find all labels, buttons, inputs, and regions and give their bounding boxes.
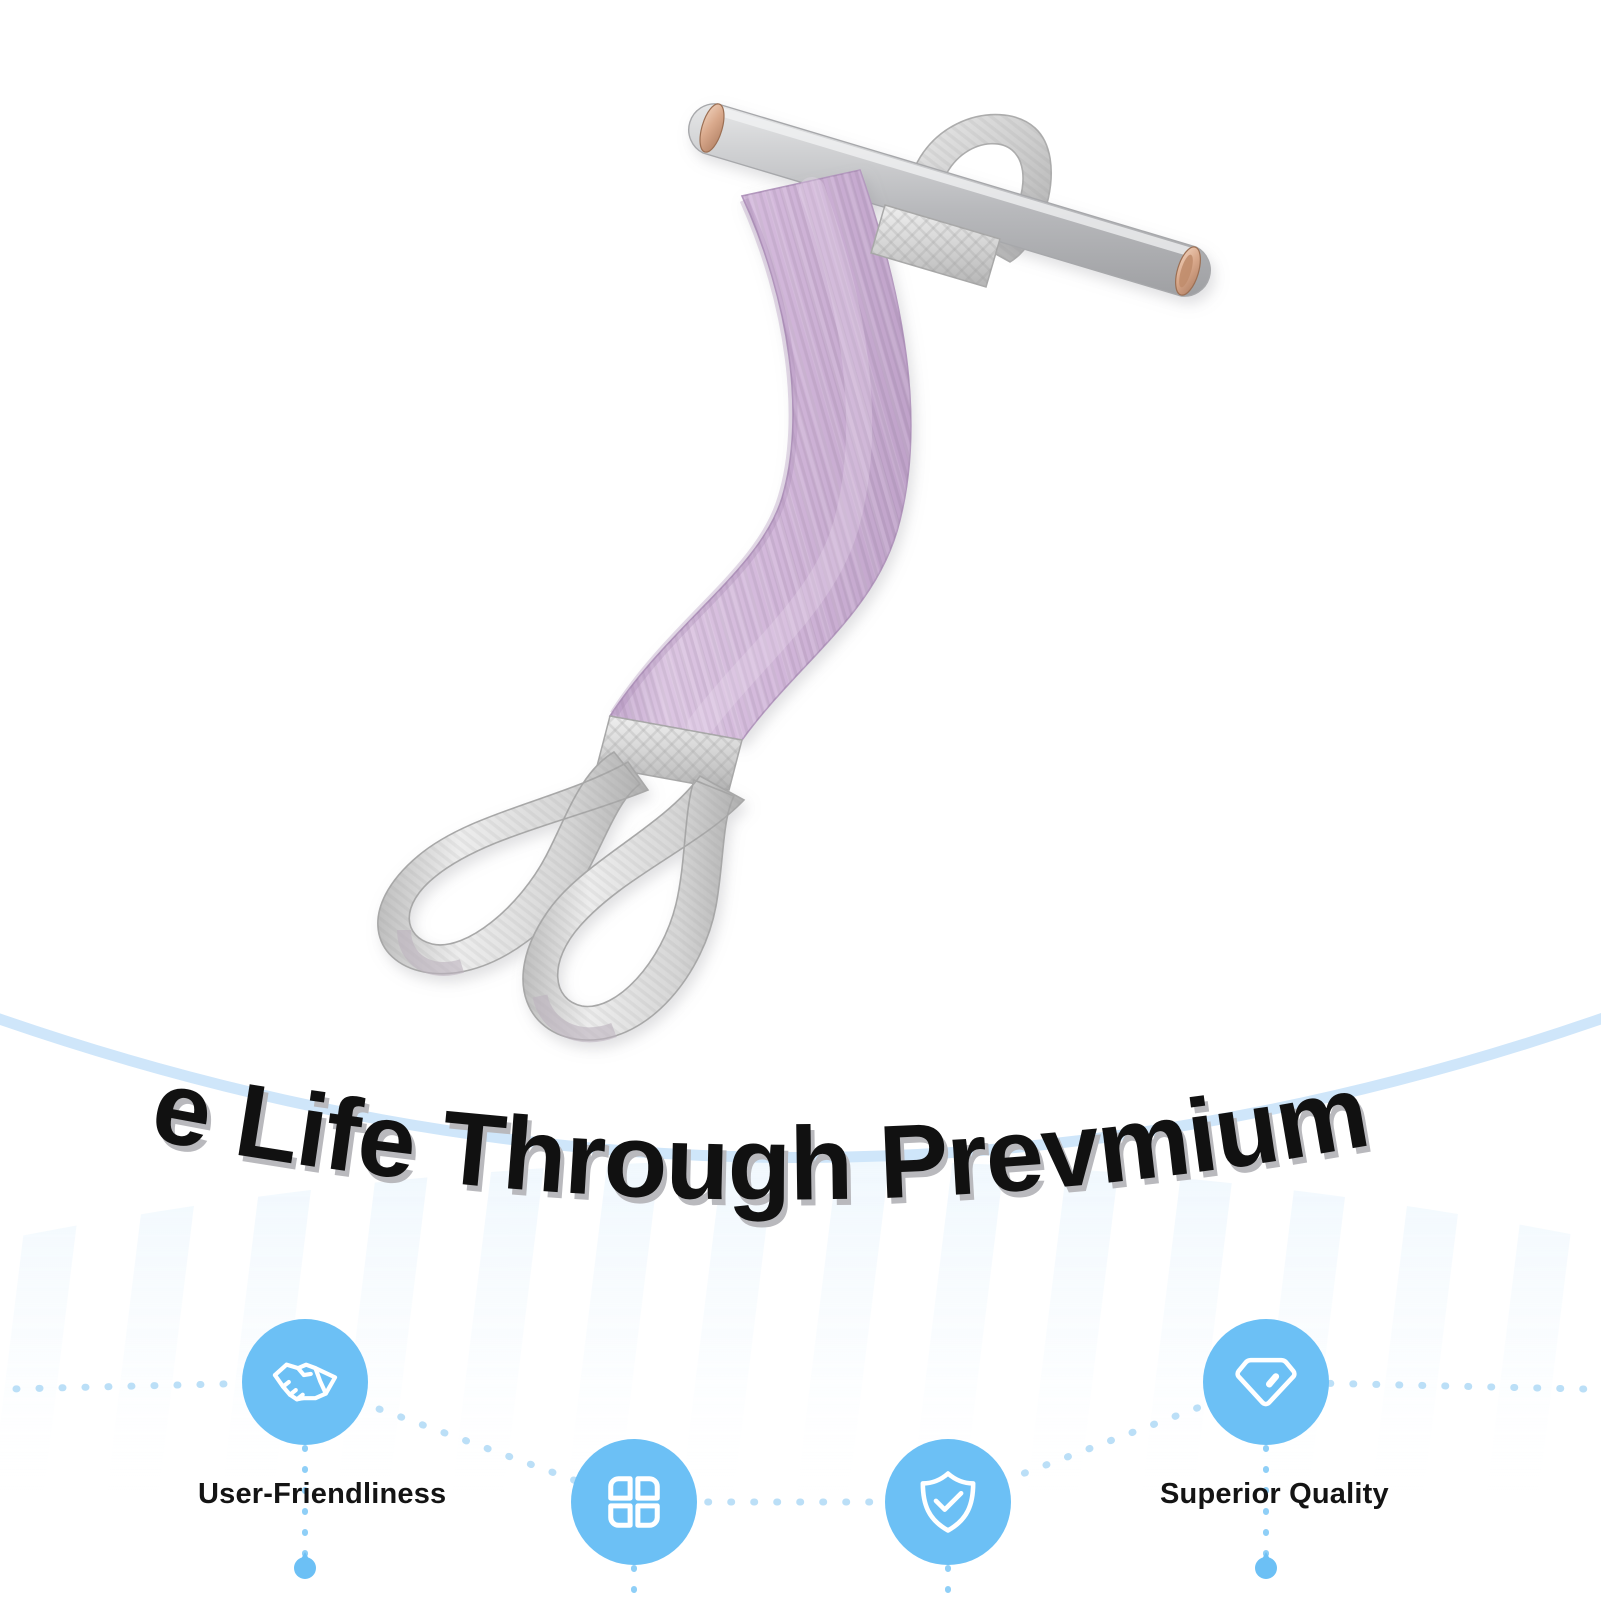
- feature-label-long-term-protection: Long Term Protection: [808, 1597, 1111, 1601]
- handshake-icon: [268, 1345, 342, 1419]
- feature-label-superior-quality: Superior Quality: [1160, 1478, 1389, 1511]
- feature-list: User-Friendliness Versatility: [0, 1190, 1601, 1601]
- feature-icon-circle-user-friendliness[interactable]: [242, 1319, 368, 1445]
- product-marketing-banner: Elevate Life Through Prevmium Quality El…: [0, 0, 1601, 1601]
- feature-dropper-4: [1255, 1448, 1277, 1579]
- feature-icon-circle-long-term-protection[interactable]: [885, 1439, 1011, 1565]
- feature-icon-circle-versatility[interactable]: [571, 1439, 697, 1565]
- product-image: [0, 0, 1601, 1100]
- shield-check-icon: [913, 1467, 983, 1537]
- feature-label-versatility: Versatility: [557, 1597, 696, 1601]
- diamond-gem-icon: [1231, 1347, 1301, 1417]
- feature-icon-circle-superior-quality[interactable]: [1203, 1319, 1329, 1445]
- feature-label-user-friendliness: User-Friendliness: [198, 1478, 446, 1511]
- feature-dropper-1: [294, 1448, 316, 1579]
- lavender-elastic-strap: [610, 170, 911, 740]
- grid-four-panel-icon: [603, 1471, 665, 1533]
